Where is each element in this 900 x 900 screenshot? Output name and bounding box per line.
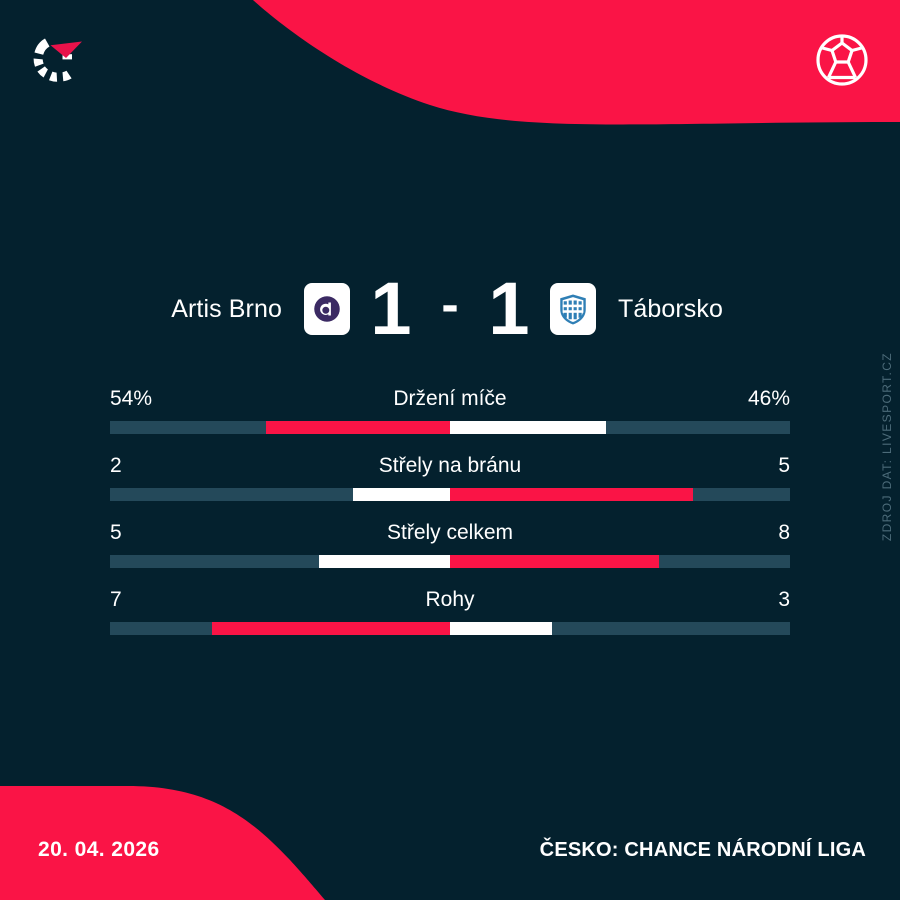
artis-brno-crest [304,283,350,335]
stat-row: 2 Střely na bránu 5 [110,451,790,518]
league-name: ČESKO: CHANCE NÁRODNÍ LIGA [540,839,866,862]
stat-bar-track [110,421,790,434]
livesport-logo [26,28,98,90]
footer: 20. 04. 2026 ČESKO: CHANCE NÁRODNÍ LIGA [0,772,900,900]
stat-bar-track [110,555,790,568]
stat-bar-home [266,421,450,434]
header-red-shape [0,0,900,128]
statistics-list: 54% Držení míče 46% 2 Střely na bránu 5 [110,384,790,652]
stat-bar-home [319,555,450,568]
stat-bar-home [212,622,450,635]
artis-brno-crest-mark [310,292,344,326]
stat-label: Střely na bránu [110,454,790,478]
taborsko-crest-mark [558,293,588,326]
stat-label: Střely celkem [110,521,790,545]
stat-bar-home [353,488,450,501]
score: 1 - 1 [350,272,550,346]
stat-bar-away [450,421,606,434]
home-score: 1 [355,272,427,346]
stat-bar-away [450,488,693,501]
stat-bar-track [110,622,790,635]
stat-label: Držení míče [110,387,790,411]
stat-bar-away [450,555,659,568]
data-source-label: ZDROJ DAT: LIVESPORT.CZ [880,352,894,541]
footer-red-shape [0,772,900,900]
stat-row: 7 Rohy 3 [110,585,790,652]
away-score: 1 [473,272,545,346]
stat-bar-away [450,622,552,635]
taborsko-crest [550,283,596,335]
header [0,0,900,128]
stat-label: Rohy [110,588,790,612]
match-stats-graphic: Artis Brno 1 - 1 [0,0,900,900]
scoreline: Artis Brno 1 - 1 [0,270,900,348]
stat-row: 54% Držení míče 46% [110,384,790,451]
home-team-name: Artis Brno [122,295,304,324]
match-date: 20. 04. 2026 [38,838,160,862]
score-separator: - [427,279,473,331]
stat-row: 5 Střely celkem 8 [110,518,790,585]
soccer-ball-icon [814,32,870,88]
away-team-name: Táborsko [596,295,778,324]
stat-bar-track [110,488,790,501]
